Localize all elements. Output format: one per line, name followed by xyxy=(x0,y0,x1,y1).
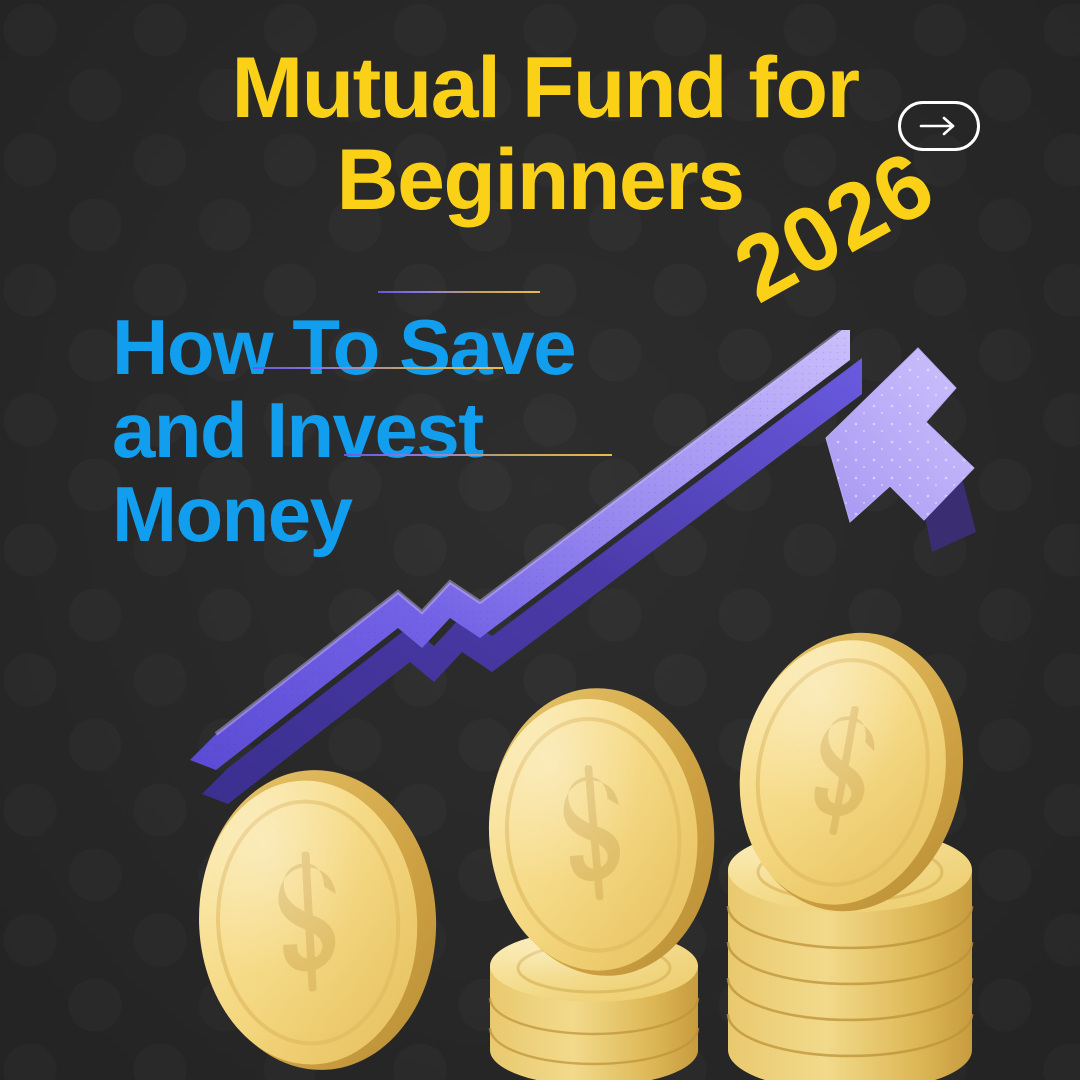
decor-rule-above-subtitle xyxy=(378,291,540,293)
page-subtitle: How To Save and Invest Money xyxy=(112,306,575,556)
gold-coin-pile xyxy=(180,600,1080,1080)
standing-coin-left xyxy=(191,764,443,1076)
decor-rule-through-invest xyxy=(344,454,612,456)
decor-rule-through-save xyxy=(253,367,503,369)
subtitle-line-1: How To Save xyxy=(112,306,575,389)
standing-coin-middle xyxy=(477,679,726,986)
poster-canvas: Mutual Fund for Beginners xyxy=(0,0,1080,1080)
subtitle-line-3: Money xyxy=(112,473,575,556)
subtitle-line-2: and Invest xyxy=(112,389,575,472)
